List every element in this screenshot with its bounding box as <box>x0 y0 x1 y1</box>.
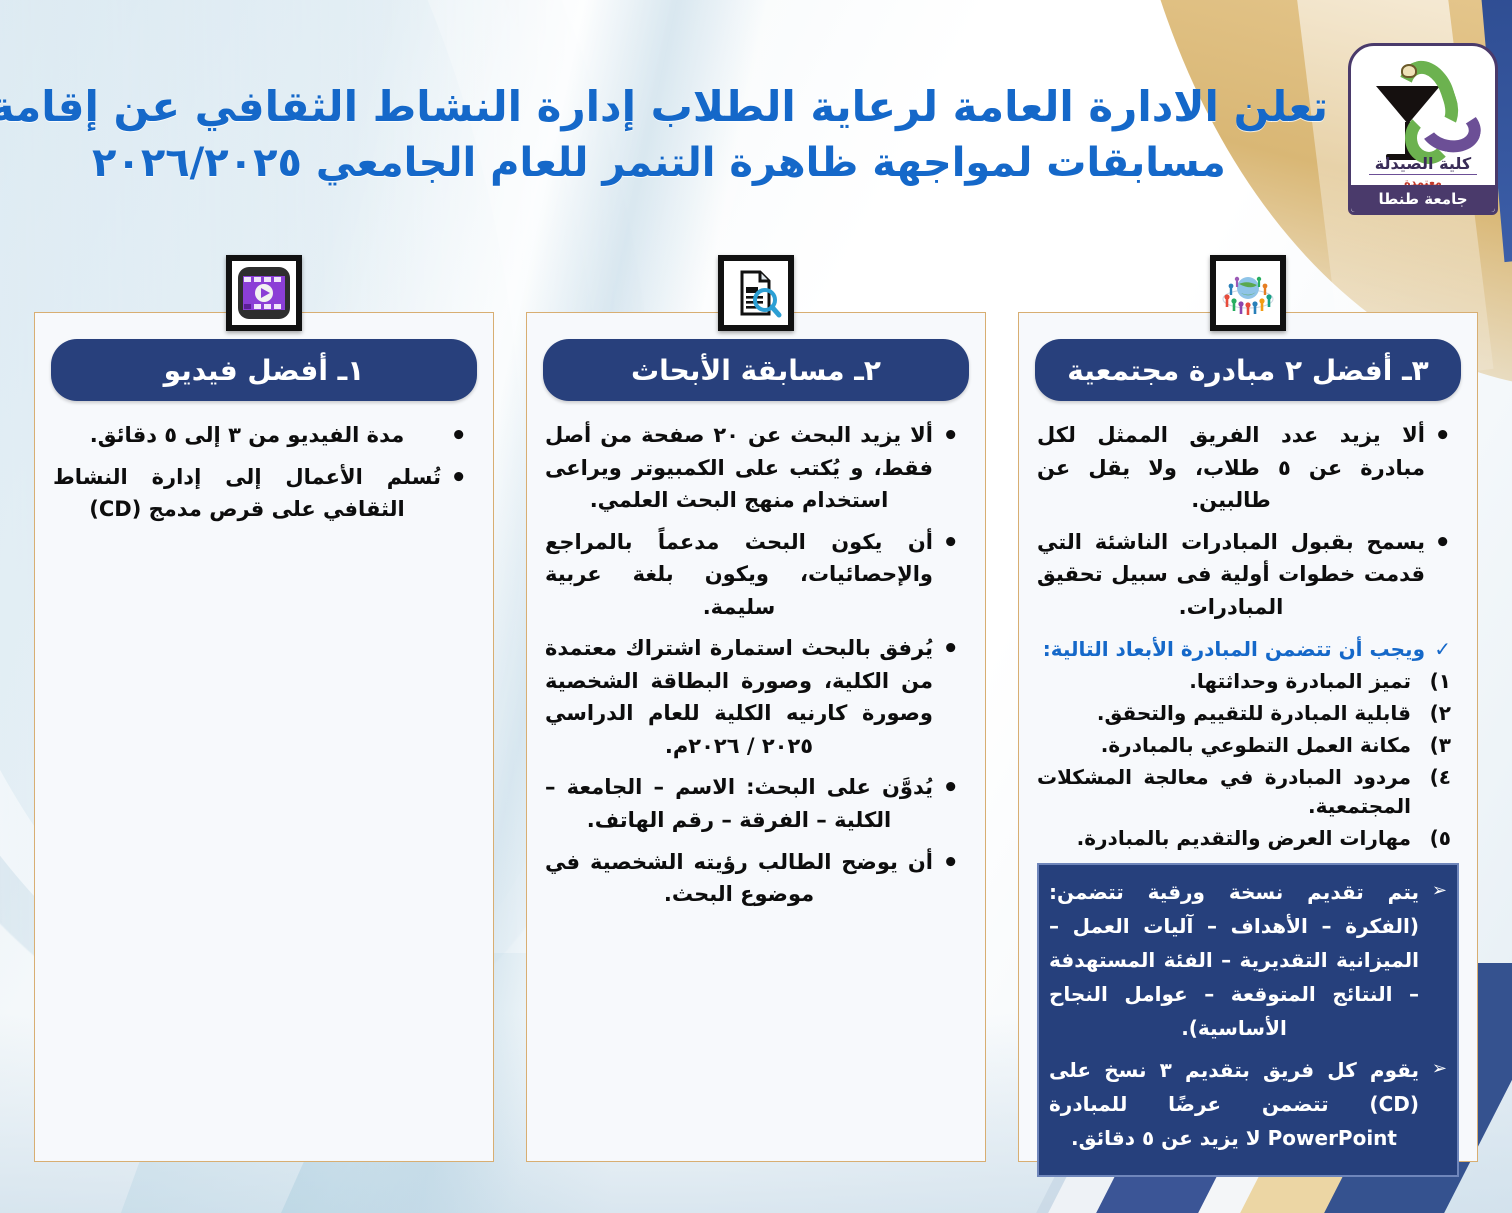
list-item: ١) تميز المبادرة وحداثتها. <box>1037 667 1455 696</box>
card3-numbered-list: ١) تميز المبادرة وحداثتها. ٢) قابلية الم… <box>1037 667 1455 853</box>
card1-title: ١ـ أفضل فيديو <box>51 339 477 401</box>
poster-title: تعلن الادارة العامة لرعاية الطلاب إدارة … <box>0 78 1348 191</box>
item-text: مهارات العرض والتقديم بالمبادرة. <box>1077 826 1411 850</box>
card3-bullet-list: ألا يزيد عدد الفريق الممثل لكل مبادرة عن… <box>1037 419 1455 623</box>
item-number: ٣) <box>1430 731 1451 760</box>
list-item: تُسلم الأعمال إلى إدارة النشاط الثقافي ع… <box>53 461 471 526</box>
item-number: ٤) <box>1430 763 1451 792</box>
pharmacy-snake-head <box>1401 64 1417 78</box>
card3-check-line: ويجب أن تتضمن المبادرة الأبعاد التالية: <box>1037 637 1455 661</box>
title-line-1: تعلن الادارة العامة لرعاية الطلاب إدارة … <box>0 78 1328 136</box>
card1-bullet-list: مدة الفيديو من ٣ إلى ٥ دقائق. تُسلم الأع… <box>53 419 471 526</box>
list-item: يسمح بقبول المبادرات الناشئة التي قدمت خ… <box>1037 526 1455 624</box>
poster-header: كلية الصيدلة معتمدة جامعة طنطا تعلن الاد… <box>0 0 1512 258</box>
pharmacy-logo-line1: كلية الصيدلة <box>1353 154 1493 173</box>
item-number: ٢) <box>1430 699 1451 728</box>
list-item: ٤) مردود المبادرة في معالجة المشكلات الم… <box>1037 763 1455 821</box>
card-best-video: ١ـ أفضل فيديو مدة الفيديو من ٣ إلى ٥ دقا… <box>34 312 494 1162</box>
poster-root: كلية الصيدلة معتمدة جامعة طنطا تعلن الاد… <box>0 0 1512 1213</box>
list-item: مدة الفيديو من ٣ إلى ٥ دقائق. <box>53 419 471 452</box>
item-text: تميز المبادرة وحداثتها. <box>1189 669 1411 693</box>
card3-arrow-list: يتم تقديم نسخة ورقية تتضمن: (الفكرة – ال… <box>1049 875 1447 1155</box>
video-player-icon <box>226 255 302 331</box>
list-item: ألا يزيد عدد الفريق الممثل لكل مبادرة عن… <box>1037 419 1455 517</box>
list-item: يتم تقديم نسخة ورقية تتضمن: (الفكرة – ال… <box>1049 875 1447 1045</box>
item-text: مكانة العمل التطوعي بالمبادرة. <box>1101 733 1411 757</box>
pharmacy-logo-line3: جامعة طنطا <box>1351 185 1495 212</box>
item-text: قابلية المبادرة للتقييم والتحقق. <box>1097 701 1411 725</box>
list-item: أن يكون البحث مدعماً بالمراجع والإحصائيا… <box>545 526 963 624</box>
item-number: ٥) <box>1430 824 1451 853</box>
card2-title: ٢ـ مسابقة الأبحاث <box>543 339 969 401</box>
list-item: ٣) مكانة العمل التطوعي بالمبادرة. <box>1037 731 1455 760</box>
document-search-icon <box>718 255 794 331</box>
list-item: ٥) مهارات العرض والتقديم بالمبادرة. <box>1037 824 1455 853</box>
faculty-of-pharmacy-logo: كلية الصيدلة معتمدة جامعة طنطا <box>1348 43 1498 215</box>
card3-title: ٣ـ أفضل ٢ مبادرة مجتمعية <box>1035 339 1461 401</box>
list-item: ألا يزيد البحث عن ٢٠ صفحة من أصل فقط، و … <box>545 419 963 517</box>
pharmacy-logo-divider <box>1369 174 1477 175</box>
item-text: مردود المبادرة في معالجة المشكلات المجتم… <box>1037 765 1411 818</box>
competition-cards: ٣ـ أفضل ٢ مبادرة مجتمعية ألا يزيد عدد ال… <box>0 312 1512 1162</box>
title-line-2: مسابقات لمواجهة ظاهرة التنمر للعام الجام… <box>0 136 1328 191</box>
list-item: أن يوضح الطالب رؤيته الشخصية في موضوع ال… <box>545 846 963 911</box>
list-item: يُرفق بالبحث استمارة اشتراك معتمدة من ال… <box>545 632 963 762</box>
list-item: يقوم كل فريق بتقديم ٣ نسخ على (CD) تتضمن… <box>1049 1053 1447 1155</box>
card-best-community-initiative: ٣ـ أفضل ٢ مبادرة مجتمعية ألا يزيد عدد ال… <box>1018 312 1478 1162</box>
card2-bullet-list: ألا يزيد البحث عن ٢٠ صفحة من أصل فقط، و … <box>545 419 963 911</box>
card3-navy-box: يتم تقديم نسخة ورقية تتضمن: (الفكرة – ال… <box>1037 863 1459 1177</box>
list-item: ٢) قابلية المبادرة للتقييم والتحقق. <box>1037 699 1455 728</box>
item-number: ١) <box>1430 667 1451 696</box>
community-globe-icon <box>1210 255 1286 331</box>
card-research-competition: ٢ـ مسابقة الأبحاث ألا يزيد البحث عن ٢٠ ص… <box>526 312 986 1162</box>
list-item: يُدوَّن على البحث: الاسم – الجامعة – الك… <box>545 771 963 836</box>
